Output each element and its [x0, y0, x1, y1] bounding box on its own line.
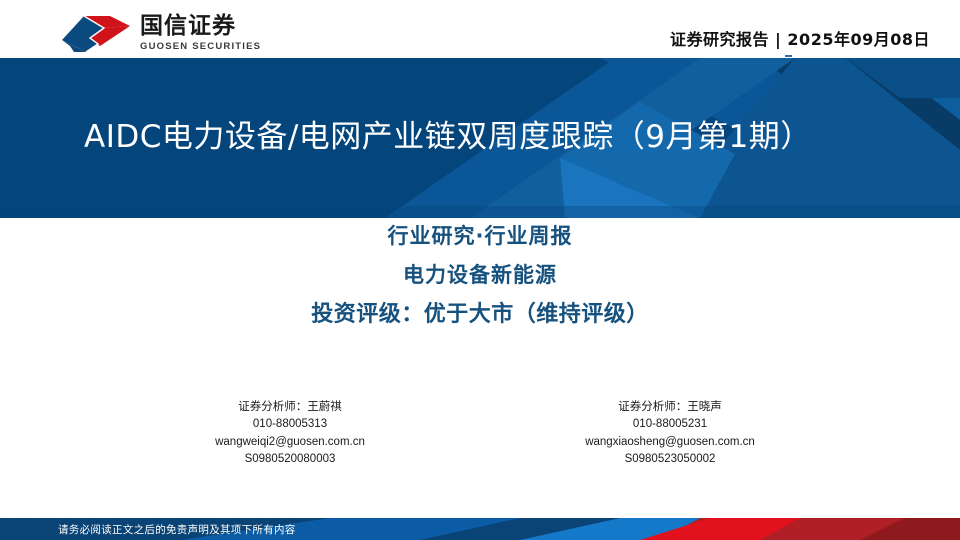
header-tick-mark	[785, 55, 792, 57]
banner-title-wrap: AIDC电力设备/电网产业链双周度跟踪（9月第1期）	[0, 58, 960, 218]
subtitle-research-type: 行业研究·行业周报	[0, 226, 960, 247]
subtitle-investment-rating: 投资评级：优于大市（维持评级）	[0, 304, 960, 326]
analyst-card: 证券分析师：王晓声 010-88005231 wangxiaosheng@guo…	[530, 398, 810, 469]
analyst-card: 证券分析师：王蔚祺 010-88005313 wangweiqi2@guosen…	[150, 398, 430, 469]
subtitle-block: 行业研究·行业周报 电力设备新能源 投资评级：优于大市（维持评级）	[0, 226, 960, 326]
analyst-license: S0980520080003	[150, 451, 430, 469]
brand-name-en: GUOSEN SECURITIES	[140, 41, 261, 52]
brand-logo: 国信证券 GUOSEN SECURITIES	[60, 12, 261, 56]
footer-disclaimer: 请务必阅读正文之后的免责声明及其项下所有内容	[58, 518, 296, 540]
analyst-email: wangxiaosheng@guosen.com.cn	[530, 434, 810, 452]
report-type-and-date: 证券研究报告 | 2025年09月08日	[670, 26, 930, 50]
title-banner: AIDC电力设备/电网产业链双周度跟踪（9月第1期）	[0, 58, 960, 218]
brand-logo-text: 国信证券 GUOSEN SECURITIES	[140, 12, 261, 52]
analyst-license: S0980523050002	[530, 451, 810, 469]
analyst-phone: 010-88005313	[150, 416, 430, 434]
page-header: 国信证券 GUOSEN SECURITIES 证券研究报告 | 2025年09月…	[0, 0, 960, 58]
analyst-name: 证券分析师：王蔚祺	[150, 398, 430, 416]
analyst-name: 证券分析师：王晓声	[530, 398, 810, 416]
analyst-list: 证券分析师：王蔚祺 010-88005313 wangweiqi2@guosen…	[0, 398, 960, 469]
analyst-phone: 010-88005231	[530, 416, 810, 434]
report-cover-page: 国信证券 GUOSEN SECURITIES 证券研究报告 | 2025年09月…	[0, 0, 960, 540]
brand-name-cn: 国信证券	[140, 14, 261, 38]
subtitle-industry: 电力设备新能源	[0, 265, 960, 286]
page-footer: 请务必阅读正文之后的免责声明及其项下所有内容	[0, 518, 960, 540]
guosen-chevron-logo-icon	[60, 12, 132, 56]
page-title: AIDC电力设备/电网产业链双周度跟踪（9月第1期）	[84, 119, 812, 156]
analyst-email: wangweiqi2@guosen.com.cn	[150, 434, 430, 452]
